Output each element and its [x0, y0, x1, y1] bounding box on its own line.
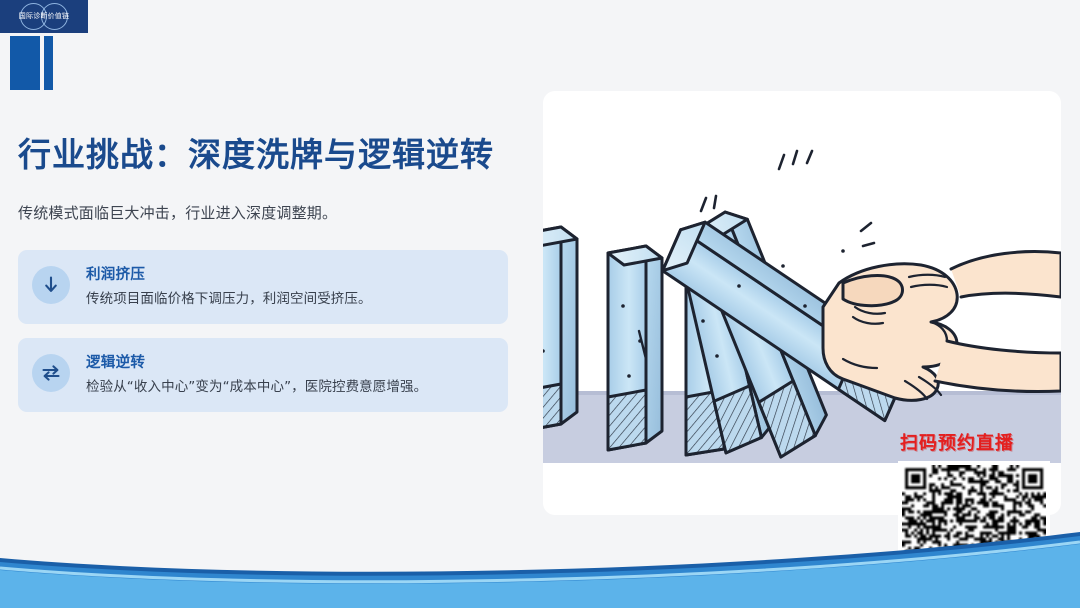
challenge-card-logic-reversal[interactable]: 逻辑逆转 检验从“收入中心”变为“成本中心”，医院控费意愿增强。 [18, 338, 508, 412]
challenge-card-profit-squeeze[interactable]: 利润挤压 传统项目面临价格下调压力，利润空间受挤压。 [18, 250, 508, 324]
brand-logo: 国际诊断价值链 [0, 0, 88, 33]
brand-logo-text: 国际诊断价值链 [0, 12, 88, 21]
domino-block-1 [543, 227, 577, 431]
brand-bar-wide [10, 36, 40, 90]
brand-bar-thin [44, 36, 53, 90]
arrow-down-icon [32, 266, 70, 304]
qr-canvas [902, 465, 1046, 604]
challenge-description: 检验从“收入中心”变为“成本中心”，医院控费意愿增强。 [86, 377, 492, 398]
challenge-list: 利润挤压 传统项目面临价格下调压力，利润空间受挤压。 逻辑逆转 检验从“收入中心… [18, 250, 518, 412]
page-title: 行业挑战：深度洗牌与逻辑逆转 [18, 132, 518, 178]
brand-block: 国际诊断价值链 [0, 0, 92, 100]
swap-arrows-icon [32, 354, 70, 392]
page-subtitle: 传统模式面临巨大冲击，行业进入深度调整期。 [18, 202, 518, 224]
challenge-title: 利润挤压 [86, 265, 492, 285]
challenge-card-body: 逻辑逆转 检验从“收入中心”变为“成本中心”，医院控费意愿增强。 [86, 352, 492, 398]
left-content-column: 行业挑战：深度洗牌与逻辑逆转 传统模式面临巨大冲击，行业进入深度调整期。 利润挤… [18, 132, 518, 426]
livestream-booking-qr-code[interactable] [898, 461, 1050, 608]
domino-block-2 [608, 246, 662, 450]
challenge-title: 逻辑逆转 [86, 353, 492, 373]
challenge-description: 传统项目面临价格下调压力，利润空间受挤压。 [86, 289, 492, 310]
challenge-card-body: 利润挤压 传统项目面临价格下调压力，利润空间受挤压。 [86, 264, 492, 310]
cta-scan-text: 扫码预约直播 [900, 429, 1014, 455]
pushing-hand-illustration [823, 252, 1061, 401]
